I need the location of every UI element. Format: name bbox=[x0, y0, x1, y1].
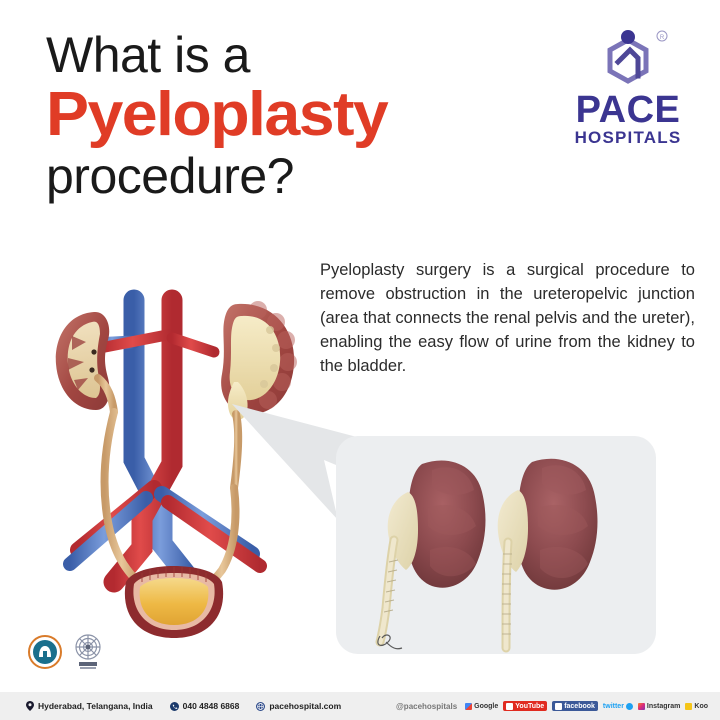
social-label-youtube: YouTube bbox=[515, 703, 544, 710]
pace-logo-mark-icon: R bbox=[558, 28, 698, 90]
location-pin-icon bbox=[26, 701, 34, 711]
footer-website[interactable]: pacehospital.com bbox=[256, 701, 341, 711]
footer-phone-text: 040 4848 6868 bbox=[183, 701, 240, 711]
facebook-icon bbox=[555, 703, 562, 710]
social-badge-twitter[interactable]: twitter bbox=[603, 703, 633, 710]
pace-hospitals-logo: R PACE HOSPITALS bbox=[558, 28, 698, 148]
koo-icon bbox=[685, 703, 692, 710]
social-handle: @pacehospitals bbox=[396, 702, 457, 711]
social-badge-koo[interactable]: Koo bbox=[685, 703, 708, 710]
social-label-twitter: twitter bbox=[603, 703, 624, 710]
title-line-2-highlight: Pyeloplasty bbox=[46, 82, 566, 147]
footer-phone[interactable]: 040 4848 6868 bbox=[170, 701, 240, 711]
page-title: What is a Pyeloplasty procedure? bbox=[46, 30, 546, 201]
youtube-icon bbox=[506, 703, 513, 710]
footer-location-text: Hyderabad, Telangana, India bbox=[38, 701, 153, 711]
social-badge-youtube[interactable]: YouTube bbox=[503, 701, 547, 711]
infographic-poster: What is a Pyeloplasty procedure? R PACE … bbox=[0, 0, 720, 720]
logo-subtitle: HOSPITALS bbox=[558, 129, 698, 148]
title-line-3: procedure? bbox=[46, 151, 546, 201]
logo-wordmark: PACE bbox=[558, 92, 698, 128]
social-label-facebook: facebook bbox=[564, 703, 595, 710]
twitter-icon bbox=[626, 703, 633, 710]
footer-location: Hyderabad, Telangana, India bbox=[26, 701, 153, 711]
social-label-koo: Koo bbox=[694, 703, 708, 710]
title-line-1: What is a bbox=[46, 30, 546, 80]
footer-bar: Hyderabad, Telangana, India 040 4848 686… bbox=[0, 692, 720, 720]
social-badge-google[interactable]: Google bbox=[465, 703, 498, 710]
footer-website-text: pacehospital.com bbox=[269, 701, 341, 711]
social-label-google: Google bbox=[474, 703, 498, 710]
google-icon bbox=[465, 703, 472, 710]
urinary-system-illustration bbox=[42, 282, 314, 640]
description-paragraph: Pyeloplasty surgery is a surgical proced… bbox=[320, 258, 695, 378]
footer-contact-group: Hyderabad, Telangana, India 040 4848 686… bbox=[0, 701, 341, 711]
accreditation-badges bbox=[28, 632, 105, 672]
nabl-accreditation-badge bbox=[71, 632, 105, 672]
globe-icon bbox=[256, 702, 265, 711]
kidney-specimens-panel bbox=[336, 436, 656, 654]
phone-icon bbox=[170, 702, 179, 711]
social-badge-instagram[interactable]: Instagram bbox=[638, 703, 680, 710]
social-label-instagram: Instagram bbox=[647, 703, 680, 710]
nabh-accreditation-badge bbox=[28, 635, 62, 669]
svg-text:R: R bbox=[660, 35, 665, 41]
social-badge-facebook[interactable]: facebook bbox=[552, 701, 598, 711]
instagram-icon bbox=[638, 703, 645, 710]
footer-social-group: @pacehospitals Google YouTube facebook t… bbox=[396, 701, 720, 711]
